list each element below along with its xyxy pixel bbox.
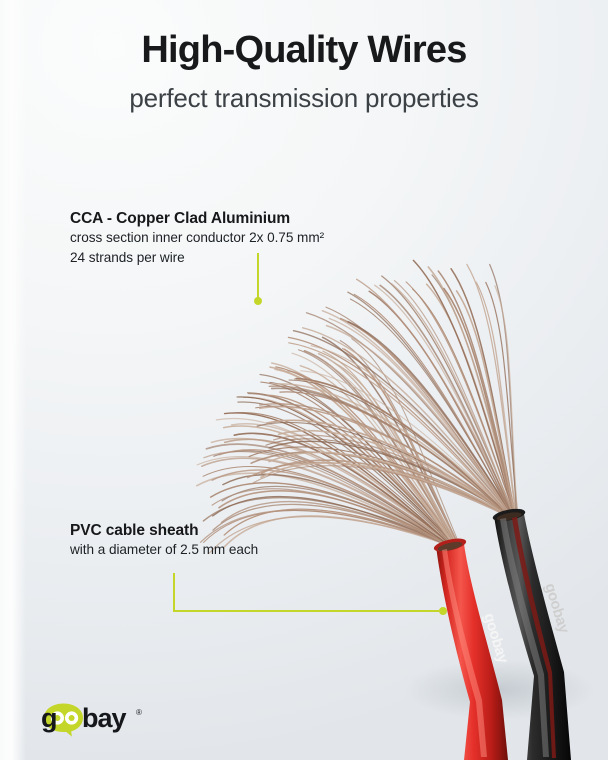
- header: High-Quality Wires perfect transmission …: [0, 0, 608, 111]
- logo-registered-mark: ®: [136, 708, 142, 717]
- logo-text-bay: bay: [82, 703, 127, 733]
- infographic-page: goobay goobay High-Quality Wires perfect…: [0, 0, 608, 760]
- logo-text-g: g: [41, 703, 58, 733]
- annotation-cca-line-2: 24 strands per wire: [70, 248, 324, 267]
- annotation-cca: CCA - Copper Clad Aluminium cross sectio…: [70, 209, 324, 267]
- leader-line-pvc: [174, 573, 447, 615]
- product-illustration: goobay goobay: [0, 0, 608, 760]
- annotation-cca-title: CCA - Copper Clad Aluminium: [70, 209, 324, 228]
- page-subtitle: perfect transmission properties: [0, 85, 608, 111]
- annotation-pvc-line-1: with a diameter of 2.5 mm each: [70, 540, 258, 559]
- cable-red: goobay: [433, 536, 512, 760]
- logo-o-second-hole: [69, 715, 75, 721]
- annotation-cca-line-1: cross section inner conductor 2x 0.75 mm…: [70, 228, 324, 247]
- page-title: High-Quality Wires: [0, 31, 608, 69]
- annotation-pvc: PVC cable sheath with a diameter of 2.5 …: [70, 521, 258, 560]
- goobay-logo: g bay ®: [41, 701, 151, 737]
- annotation-pvc-title: PVC cable sheath: [70, 521, 258, 540]
